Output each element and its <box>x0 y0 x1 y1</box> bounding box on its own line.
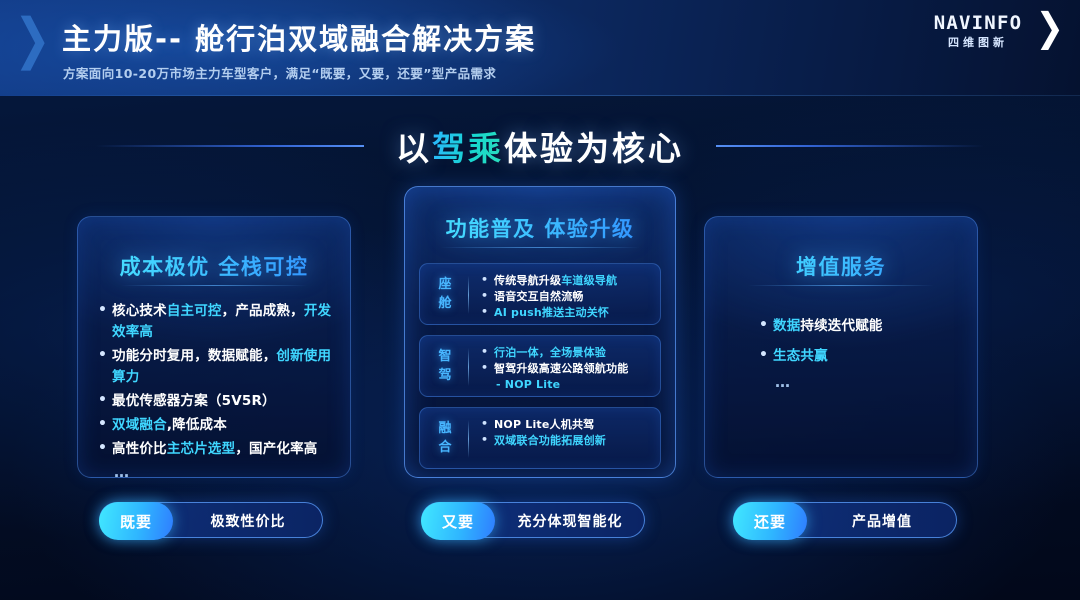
card-title-rule <box>121 285 307 286</box>
bullet-item: 生态共赢 <box>757 343 963 369</box>
section-item: 传统导航升级车道级导航 <box>480 273 652 289</box>
section-item: 双域联合功能拓展创新 <box>480 433 652 449</box>
section-label: 融合 <box>433 419 457 457</box>
section-item: - NOP Lite <box>480 377 652 393</box>
text-run: 智驾升级高速公路领航功能 <box>494 362 628 375</box>
card-title: 增值服务 <box>705 251 977 281</box>
text-run: 核心技术 <box>112 303 167 319</box>
feature-section[interactable]: 融合NOP Lite人机共驾双域联合功能拓展创新 <box>419 407 661 469</box>
text-run: 主芯片选型 <box>167 441 236 457</box>
section-item: AI push推送主动关怀 <box>480 305 652 321</box>
bullet-item: 核心技术自主可控，产品成熟，开发效率高 <box>96 301 336 343</box>
text-run: ，国产化率高 <box>235 441 317 457</box>
text-run: ，产品成熟， <box>222 303 304 319</box>
text-run: 最优 <box>112 393 139 409</box>
main-heading: 以驾乘体验为核心 <box>0 122 1080 170</box>
slide-root: ❯ 主力版-- 舱行泊双域融合解决方案 方案面向10-20万市场主力车型客户，满… <box>0 0 1080 600</box>
text-run: 传感器方案（5V5R） <box>139 393 275 409</box>
section-label: 座舱 <box>433 275 457 313</box>
text-run: NOP Lite人机共驾 <box>494 418 594 431</box>
pill-badge: 既要 <box>99 502 173 540</box>
main-heading-suffix: 体验为核心 <box>504 129 684 168</box>
pill-badge: 还要 <box>733 502 807 540</box>
card-title-rule <box>440 247 640 248</box>
card-title: 成本极优 全栈可控 <box>78 251 350 281</box>
text-run: 功能分时复用，数据赋能， <box>112 348 276 364</box>
main-heading-prefix: 以 <box>396 129 432 168</box>
text-run: 数据 <box>773 318 800 334</box>
text-run: 自主可控 <box>167 303 222 319</box>
feature-section[interactable]: 智驾行泊一体，全场景体验智驾升级高速公路领航功能- NOP Lite <box>419 335 661 397</box>
section-item-list: NOP Lite人机共驾双域联合功能拓展创新 <box>480 417 652 449</box>
text-run: ,降低成本 <box>167 417 227 433</box>
bullet-item: 功能分时复用，数据赋能，创新使用算力 <box>96 346 336 388</box>
text-run: - NOP Lite <box>496 378 560 391</box>
bullet-item: 高性价比主芯片选型，国产化率高 <box>96 439 336 460</box>
pill-badge: 又要 <box>421 502 495 540</box>
page-subtitle: 方案面向10-20万市场主力车型客户，满足“既要，又要，还要”型产品需求 <box>63 63 496 82</box>
logo-chinese-name: 四维图新 <box>922 34 1034 50</box>
text-run: 持续迭代赋能 <box>800 318 882 334</box>
main-heading-highlight: 驾乘 <box>432 129 504 168</box>
footer-pill-3[interactable]: 还要 产品增值 <box>733 502 957 538</box>
slide-header: ❯ 主力版-- 舱行泊双域融合解决方案 方案面向10-20万市场主力车型客户，满… <box>0 0 1080 96</box>
section-divider <box>468 420 469 458</box>
card-function[interactable]: 功能普及 体验升级 座舱传统导航升级车道级导航语音交互自然流畅AI push推送… <box>404 186 676 478</box>
card-title-rule <box>748 285 934 286</box>
text-run: 传统导航升级 <box>494 274 561 287</box>
bullet-item: 最优传感器方案（5V5R） <box>96 391 336 412</box>
section-list: 座舱传统导航升级车道级导航语音交互自然流畅AI push推送主动关怀智驾行泊一体… <box>419 263 661 479</box>
section-item: 智驾升级高速公路领航功能 <box>480 361 652 377</box>
pill-label: 充分体现智能化 <box>496 503 644 539</box>
pill-label: 产品增值 <box>808 503 956 539</box>
main-heading-block: 以驾乘体验为核心 <box>0 122 1080 170</box>
text-run: 生态共赢 <box>773 348 828 364</box>
bullet-more: … <box>757 373 963 391</box>
section-item-list: 传统导航升级车道级导航语音交互自然流畅AI push推送主动关怀 <box>480 273 652 321</box>
bullet-item: 双域融合,降低成本 <box>96 415 336 436</box>
text-run: 行泊一体，全场景体验 <box>494 346 606 359</box>
card-value[interactable]: 增值服务 数据持续迭代赋能生态共赢… <box>704 216 978 478</box>
chevron-right-icon: ❯ <box>14 12 48 70</box>
bullet-item: 数据持续迭代赋能 <box>757 313 963 339</box>
pill-label: 极致性价比 <box>174 503 322 539</box>
page-title: 主力版-- 舱行泊双域融合解决方案 <box>62 16 536 58</box>
text-run: 车道级导航 <box>561 274 617 287</box>
section-item: 行泊一体，全场景体验 <box>480 345 652 361</box>
section-item: NOP Lite人机共驾 <box>480 417 652 433</box>
card-title: 功能普及 体验升级 <box>405 213 675 243</box>
text-run: 双域联合功能拓展创新 <box>494 434 606 447</box>
text-run: 双域融合 <box>112 417 167 433</box>
section-label: 智驾 <box>433 347 457 385</box>
footer-pill-2[interactable]: 又要 充分体现智能化 <box>421 502 645 538</box>
card-cost[interactable]: 成本极优 全栈可控 核心技术自主可控，产品成熟，开发效率高功能分时复用，数据赋能… <box>77 216 351 478</box>
section-divider <box>468 348 469 386</box>
text-run: AI push推送主动关怀 <box>494 306 609 319</box>
bullet-list: 核心技术自主可控，产品成熟，开发效率高功能分时复用，数据赋能，创新使用算力最优传… <box>96 301 336 481</box>
text-run: 语音交互自然流畅 <box>494 290 584 303</box>
brand-logo: NAVINFO 四维图新 ❯ <box>922 8 1062 56</box>
logo-chevron-icon: ❯ <box>1036 8 1065 47</box>
logo-wordmark: NAVINFO <box>922 12 1034 34</box>
footer-pill-1[interactable]: 既要 极致性价比 <box>99 502 323 538</box>
bullet-more: … <box>96 463 336 481</box>
section-item: 语音交互自然流畅 <box>480 289 652 305</box>
section-divider <box>468 276 469 314</box>
text-run: 高性价比 <box>112 441 167 457</box>
bullet-list: 数据持续迭代赋能生态共赢… <box>757 313 963 391</box>
section-item-list: 行泊一体，全场景体验智驾升级高速公路领航功能- NOP Lite <box>480 345 652 393</box>
feature-section[interactable]: 座舱传统导航升级车道级导航语音交互自然流畅AI push推送主动关怀 <box>419 263 661 325</box>
